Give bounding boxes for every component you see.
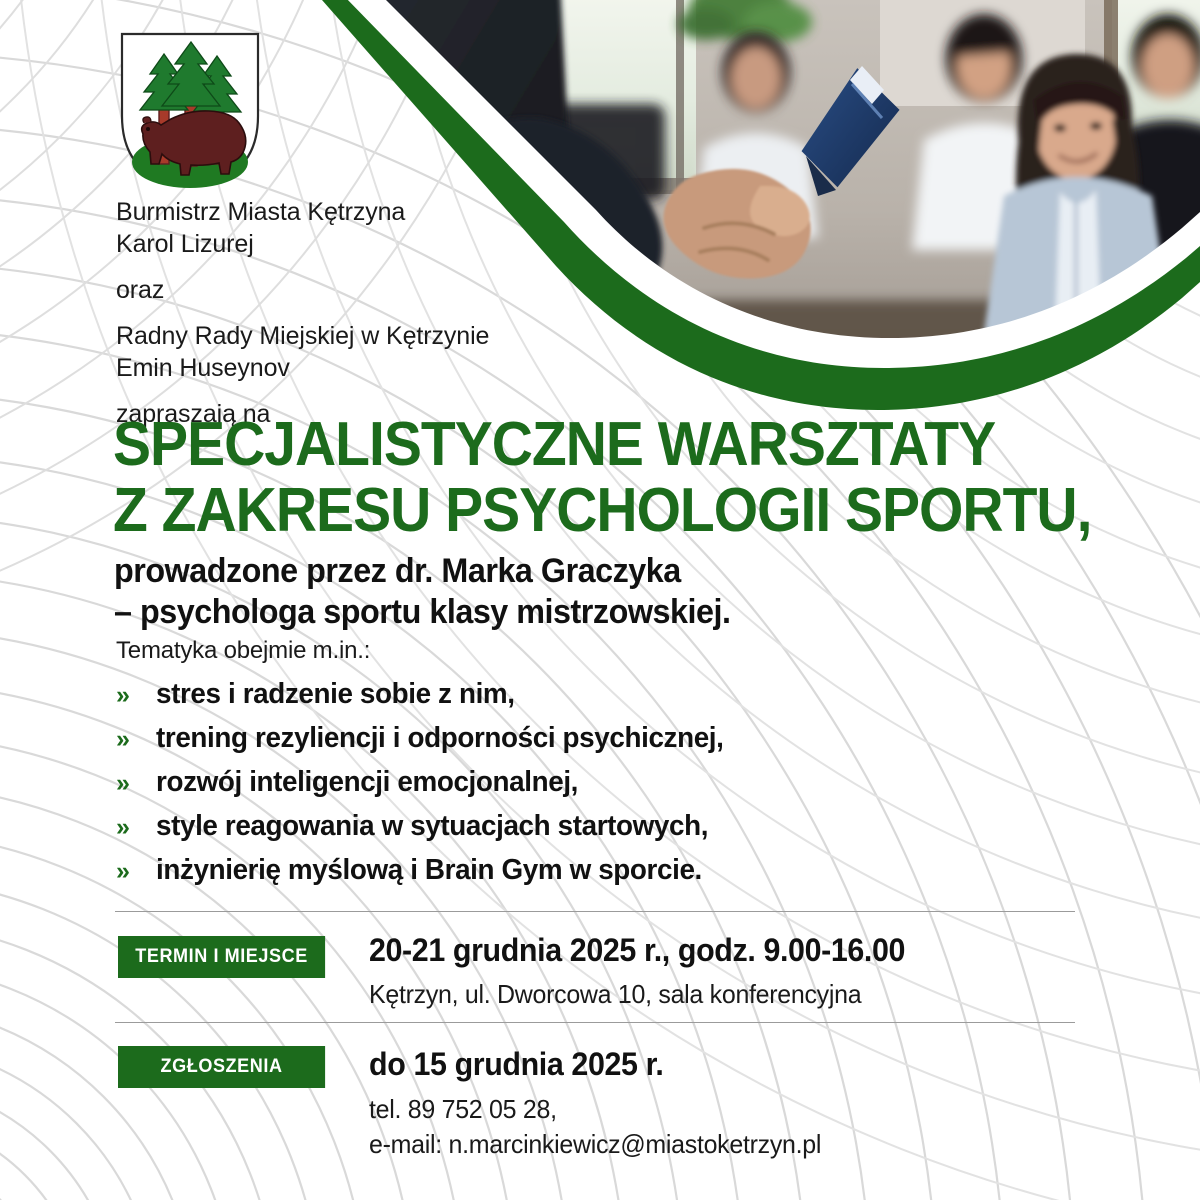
termin-location-line: Kętrzyn, ul. Dworcowa 10, sala konferenc…	[369, 977, 861, 1012]
status-badge-zgloszenia: ZGŁOSZENIA	[118, 1046, 325, 1088]
intro-line: Karol Lizurej	[116, 228, 756, 260]
list-item-label: rozwój inteligencji emocjonalnej,	[156, 766, 578, 799]
zgloszenia-deadline: do 15 grudnia 2025 r.	[369, 1046, 663, 1083]
headline-line: SPECJALISTYCZNE WARSZTATY	[113, 412, 1070, 478]
headline-line: Z ZAKRESU PSYCHOLOGII SPORTU,	[113, 478, 1070, 544]
list-item: » inżynierię myślową i Brain Gym w sporc…	[116, 854, 1096, 898]
status-badge-termin: TERMIN I MIEJSCE	[118, 936, 325, 978]
page-title: SPECJALISTYCZNE WARSZTATY Z ZAKRESU PSYC…	[113, 412, 1070, 545]
list-item: » stres i radzenie sobie z nim,	[116, 678, 1096, 722]
subtitle-line: prowadzone przez dr. Marka Graczyka	[114, 551, 1026, 592]
intro-line: Emin Huseynov	[116, 352, 756, 384]
chevron-double-right-icon: »	[116, 769, 156, 798]
intro-line: oraz	[116, 274, 756, 306]
poster-root: Burmistrz Miasta Kętrzyna Karol Lizurej …	[0, 0, 1200, 1200]
list-item: » rozwój inteligencji emocjonalnej,	[116, 766, 1096, 810]
topics-label: Tematyka obejmie m.in.:	[116, 637, 370, 665]
list-item-label: style reagowania w sytuacjach startowych…	[156, 810, 708, 843]
chevron-double-right-icon: »	[116, 725, 156, 754]
list-item: » trening rezyliencji i odporności psych…	[116, 722, 1096, 766]
list-item: » style reagowania w sytuacjach startowy…	[116, 810, 1096, 854]
list-item-label: inżynierię myślową i Brain Gym w sporcie…	[156, 854, 702, 887]
intro-line: Radny Rady Miejskiej w Kętrzynie	[116, 320, 756, 352]
email-line: e-mail: n.marcinkiewicz@miastoketrzyn.pl	[369, 1127, 821, 1162]
divider	[115, 911, 1075, 912]
intro-line: Burmistrz Miasta Kętrzyna	[116, 196, 756, 228]
termin-main-text: 20-21 grudnia 2025 r., godz. 9.00-16.00	[369, 932, 905, 969]
intro-group-councillor: Radny Rady Miejskiej w Kętrzynie Emin Hu…	[116, 320, 756, 384]
intro-group-conjunction: oraz	[116, 274, 756, 306]
topics-list: » stres i radzenie sobie z nim, » trenin…	[116, 678, 1096, 898]
subtitle-line: – psychologa sportu klasy mistrzowskiej.	[114, 592, 1026, 633]
crest	[116, 30, 264, 190]
chevron-double-right-icon: »	[116, 813, 156, 842]
termin-location: Kętrzyn, ul. Dworcowa 10, sala konferenc…	[369, 977, 861, 1012]
divider	[115, 1022, 1075, 1023]
intro-group-mayor: Burmistrz Miasta Kętrzyna Karol Lizurej	[116, 196, 756, 260]
subtitle: prowadzone przez dr. Marka Graczyka – ps…	[114, 551, 1026, 634]
list-item-label: stres i radzenie sobie z nim,	[156, 678, 515, 711]
invitation-intro: Burmistrz Miasta Kętrzyna Karol Lizurej …	[116, 196, 756, 430]
chevron-double-right-icon: »	[116, 857, 156, 886]
zgloszenia-contact: tel. 89 752 05 28, e-mail: n.marcinkiewi…	[369, 1092, 821, 1161]
phone-line: tel. 89 752 05 28,	[369, 1092, 821, 1127]
list-item-label: trening rezyliencji i odporności psychic…	[156, 722, 724, 755]
chevron-double-right-icon: »	[116, 681, 156, 710]
